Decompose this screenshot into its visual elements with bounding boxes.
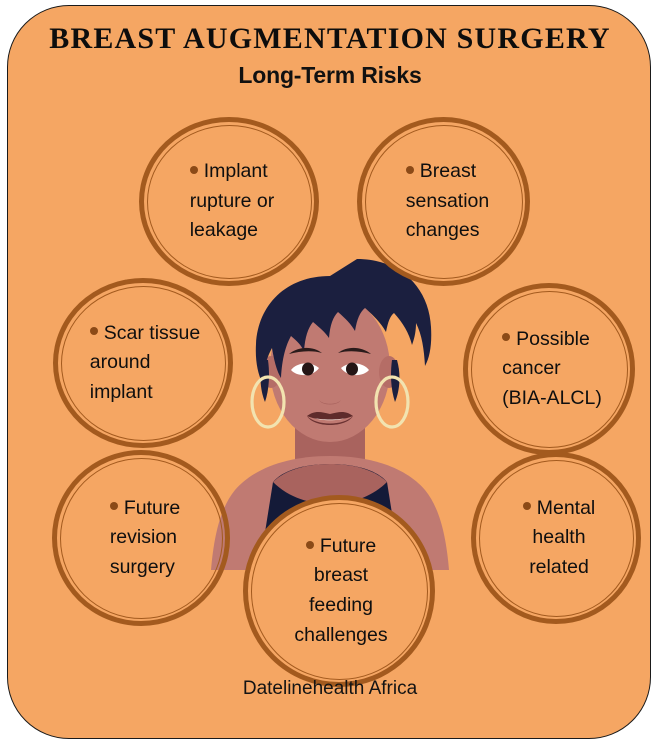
risk-circle-revision[interactable]: Future revision surgery [52, 450, 230, 626]
infographic-canvas: BREAST AUGMENTATION SURGERY Long-Term Ri… [0, 0, 660, 746]
bullet-icon [406, 166, 414, 174]
risk-circle-mental-health[interactable]: Mental health related [471, 452, 641, 624]
risk-circle-rupture[interactable]: Implant rupture or leakage [139, 117, 319, 286]
infographic-panel: BREAST AUGMENTATION SURGERY Long-Term Ri… [7, 5, 651, 739]
source-credit: Datelinehealth Africa [8, 678, 651, 700]
risk-label: Future revision surgery [102, 494, 180, 583]
risk-label: Breast sensation changes [398, 157, 489, 246]
risk-circle-sensation[interactable]: Breast sensation changes [357, 117, 530, 286]
page-subtitle: Long-Term Risks [8, 62, 651, 89]
risk-label: Implant rupture or leakage [184, 157, 275, 246]
risk-circle-cancer[interactable]: Possible cancer (BIA-ALCL) [463, 283, 635, 455]
bullet-icon [90, 327, 98, 335]
risk-circle-breastfeeding[interactable]: Future breast feeding challenges [243, 495, 435, 687]
risk-label: Possible cancer (BIA-ALCL) [496, 325, 602, 414]
page-title: BREAST AUGMENTATION SURGERY [8, 22, 651, 56]
bullet-icon [502, 333, 510, 341]
risk-label: Future breast feeding challenges [290, 532, 387, 651]
risk-circle-scar[interactable]: Scar tissue around implant [53, 278, 233, 448]
bullet-icon [110, 502, 118, 510]
bullet-icon [306, 541, 314, 549]
risk-label: Mental health related [517, 494, 596, 583]
bullet-icon [190, 166, 198, 174]
risk-label: Scar tissue around implant [86, 319, 200, 408]
bullet-icon [523, 502, 531, 510]
